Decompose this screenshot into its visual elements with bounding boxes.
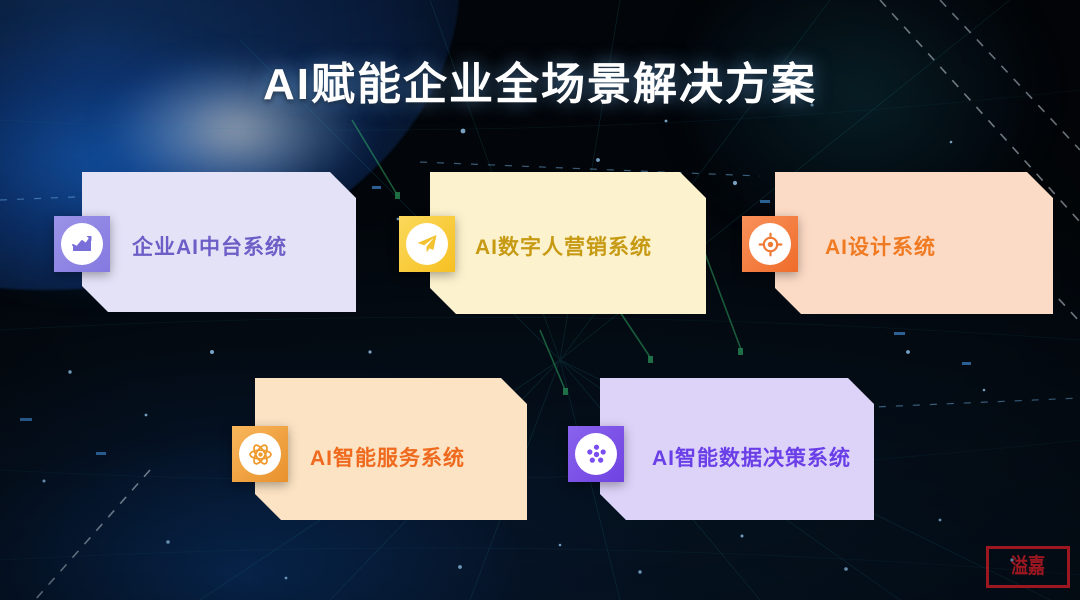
card-ai-smart-service-label: AI智能服务系统 [310,442,465,472]
seal-watermark-text: 溢嘉 [1011,556,1045,577]
seal-watermark: 溢嘉 [986,546,1070,588]
target-crosshair-icon [758,232,783,257]
network-hub-icon [584,442,609,467]
card-enterprise-ai-midend-label: 企业AI中台系统 [132,231,287,261]
card-ai-digital-human-marketing-label: AI数字人营销系统 [475,231,652,261]
card-ai-smart-data-decision-icon-box[interactable] [568,426,624,482]
card-ai-smart-service-icon-box[interactable] [232,426,288,482]
card-ai-smart-data-decision-label: AI智能数据决策系统 [652,442,851,472]
card-ai-digital-human-marketing-icon-box[interactable] [399,216,455,272]
icon-circle [239,433,281,475]
icon-circle [406,223,448,265]
slide-canvas: AI赋能企业全场景解决方案 企业AI中台系统 AI数字人营销系统 [0,0,1080,600]
card-ai-design-label: AI设计系统 [825,231,936,261]
icon-circle [575,433,617,475]
page-title: AI赋能企业全场景解决方案 [0,48,1080,112]
chart-growth-icon [70,232,94,256]
atom-icon [248,442,273,467]
card-ai-design-icon-box[interactable] [742,216,798,272]
icon-circle [749,223,791,265]
paper-plane-icon [415,232,439,256]
card-enterprise-ai-midend-icon-box[interactable] [54,216,110,272]
icon-circle [61,223,103,265]
